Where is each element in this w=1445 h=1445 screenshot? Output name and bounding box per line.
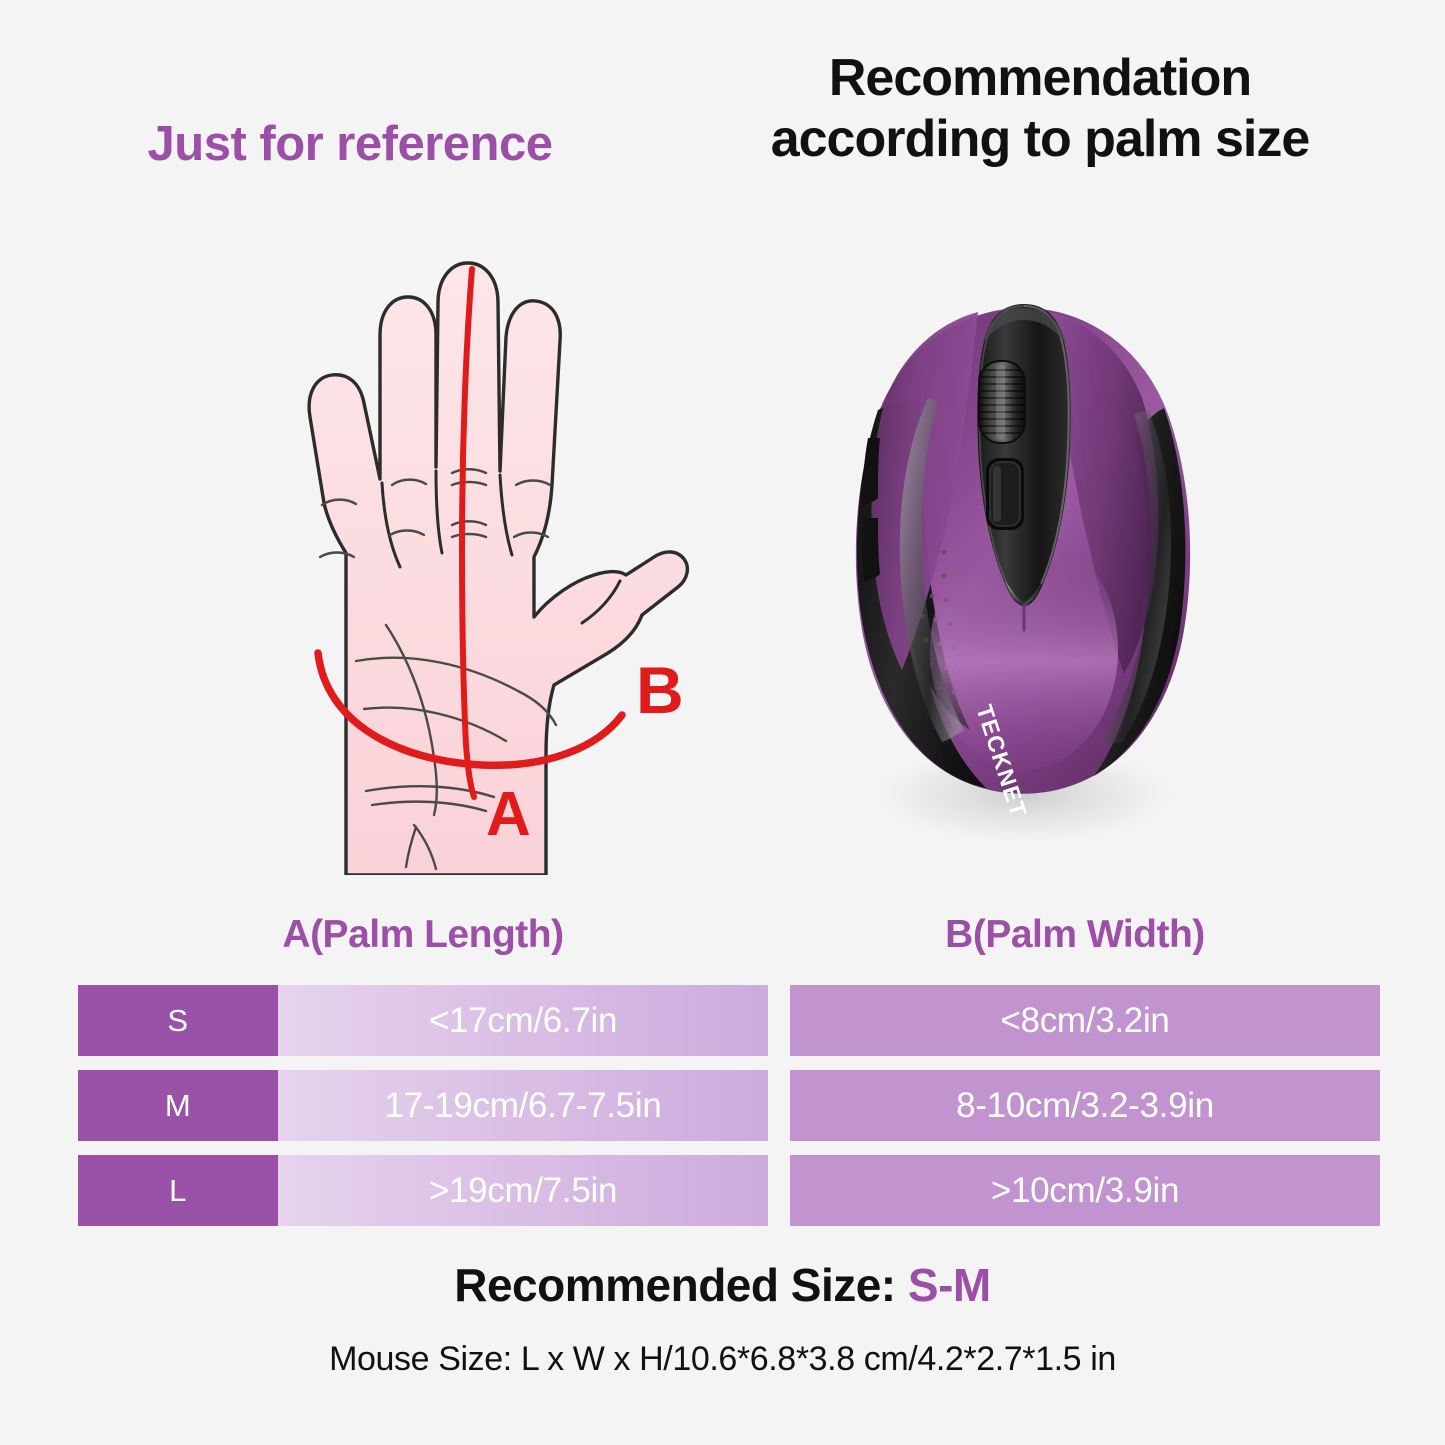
size-label-cell: S [78,985,278,1056]
size-label-cell: L [78,1155,278,1226]
palm-length-cell: >19cm/7.5in [278,1155,768,1226]
palm-width-cell: >10cm/3.9in [790,1155,1380,1226]
main-heading-line-1: Recommendation [640,48,1440,109]
column-gap [768,1155,790,1226]
size-chart-table: S <17cm/6.7in <8cm/3.2in M 17-19cm/6.7-7… [78,985,1380,1230]
recommended-size-prefix: Recommended Size: [454,1259,908,1311]
mouse-product-image: TECKNET [828,290,1214,850]
palm-width-cell: 8-10cm/3.2-3.9in [790,1070,1380,1141]
palm-length-cell: 17-19cm/6.7-7.5in [278,1070,768,1141]
infographic-root: Just for reference Recommendation accord… [0,0,1445,1445]
table-column-headers: A(Palm Length) B(Palm Width) [0,913,1445,973]
column-header-palm-length: A(Palm Length) [78,913,768,957]
measure-label-a: A [486,780,531,849]
recommended-size-line: Recommended Size: S-M [0,1258,1445,1312]
dpi-button [986,458,1024,530]
column-header-palm-width: B(Palm Width) [770,913,1380,957]
reference-heading: Just for reference [0,116,700,172]
size-label-cell: M [78,1070,278,1141]
column-gap [768,985,790,1056]
scroll-wheel [978,360,1026,444]
measure-label-b: B [636,653,684,727]
palm-length-cell: <17cm/6.7in [278,985,768,1056]
mouse-dimensions-line: Mouse Size: L x W x H/10.6*6.8*3.8 cm/4.… [0,1340,1445,1379]
recommended-size-value: S-M [908,1259,991,1311]
table-row: S <17cm/6.7in <8cm/3.2in [78,985,1380,1056]
main-heading: Recommendation according to palm size [640,48,1440,170]
column-gap [768,1070,790,1141]
palm-width-cell: <8cm/3.2in [790,985,1380,1056]
table-row: M 17-19cm/6.7-7.5in 8-10cm/3.2-3.9in [78,1070,1380,1141]
table-row: L >19cm/7.5in >10cm/3.9in [78,1155,1380,1226]
main-heading-line-2: according to palm size [640,109,1440,170]
hand-diagram: A B [150,185,770,875]
